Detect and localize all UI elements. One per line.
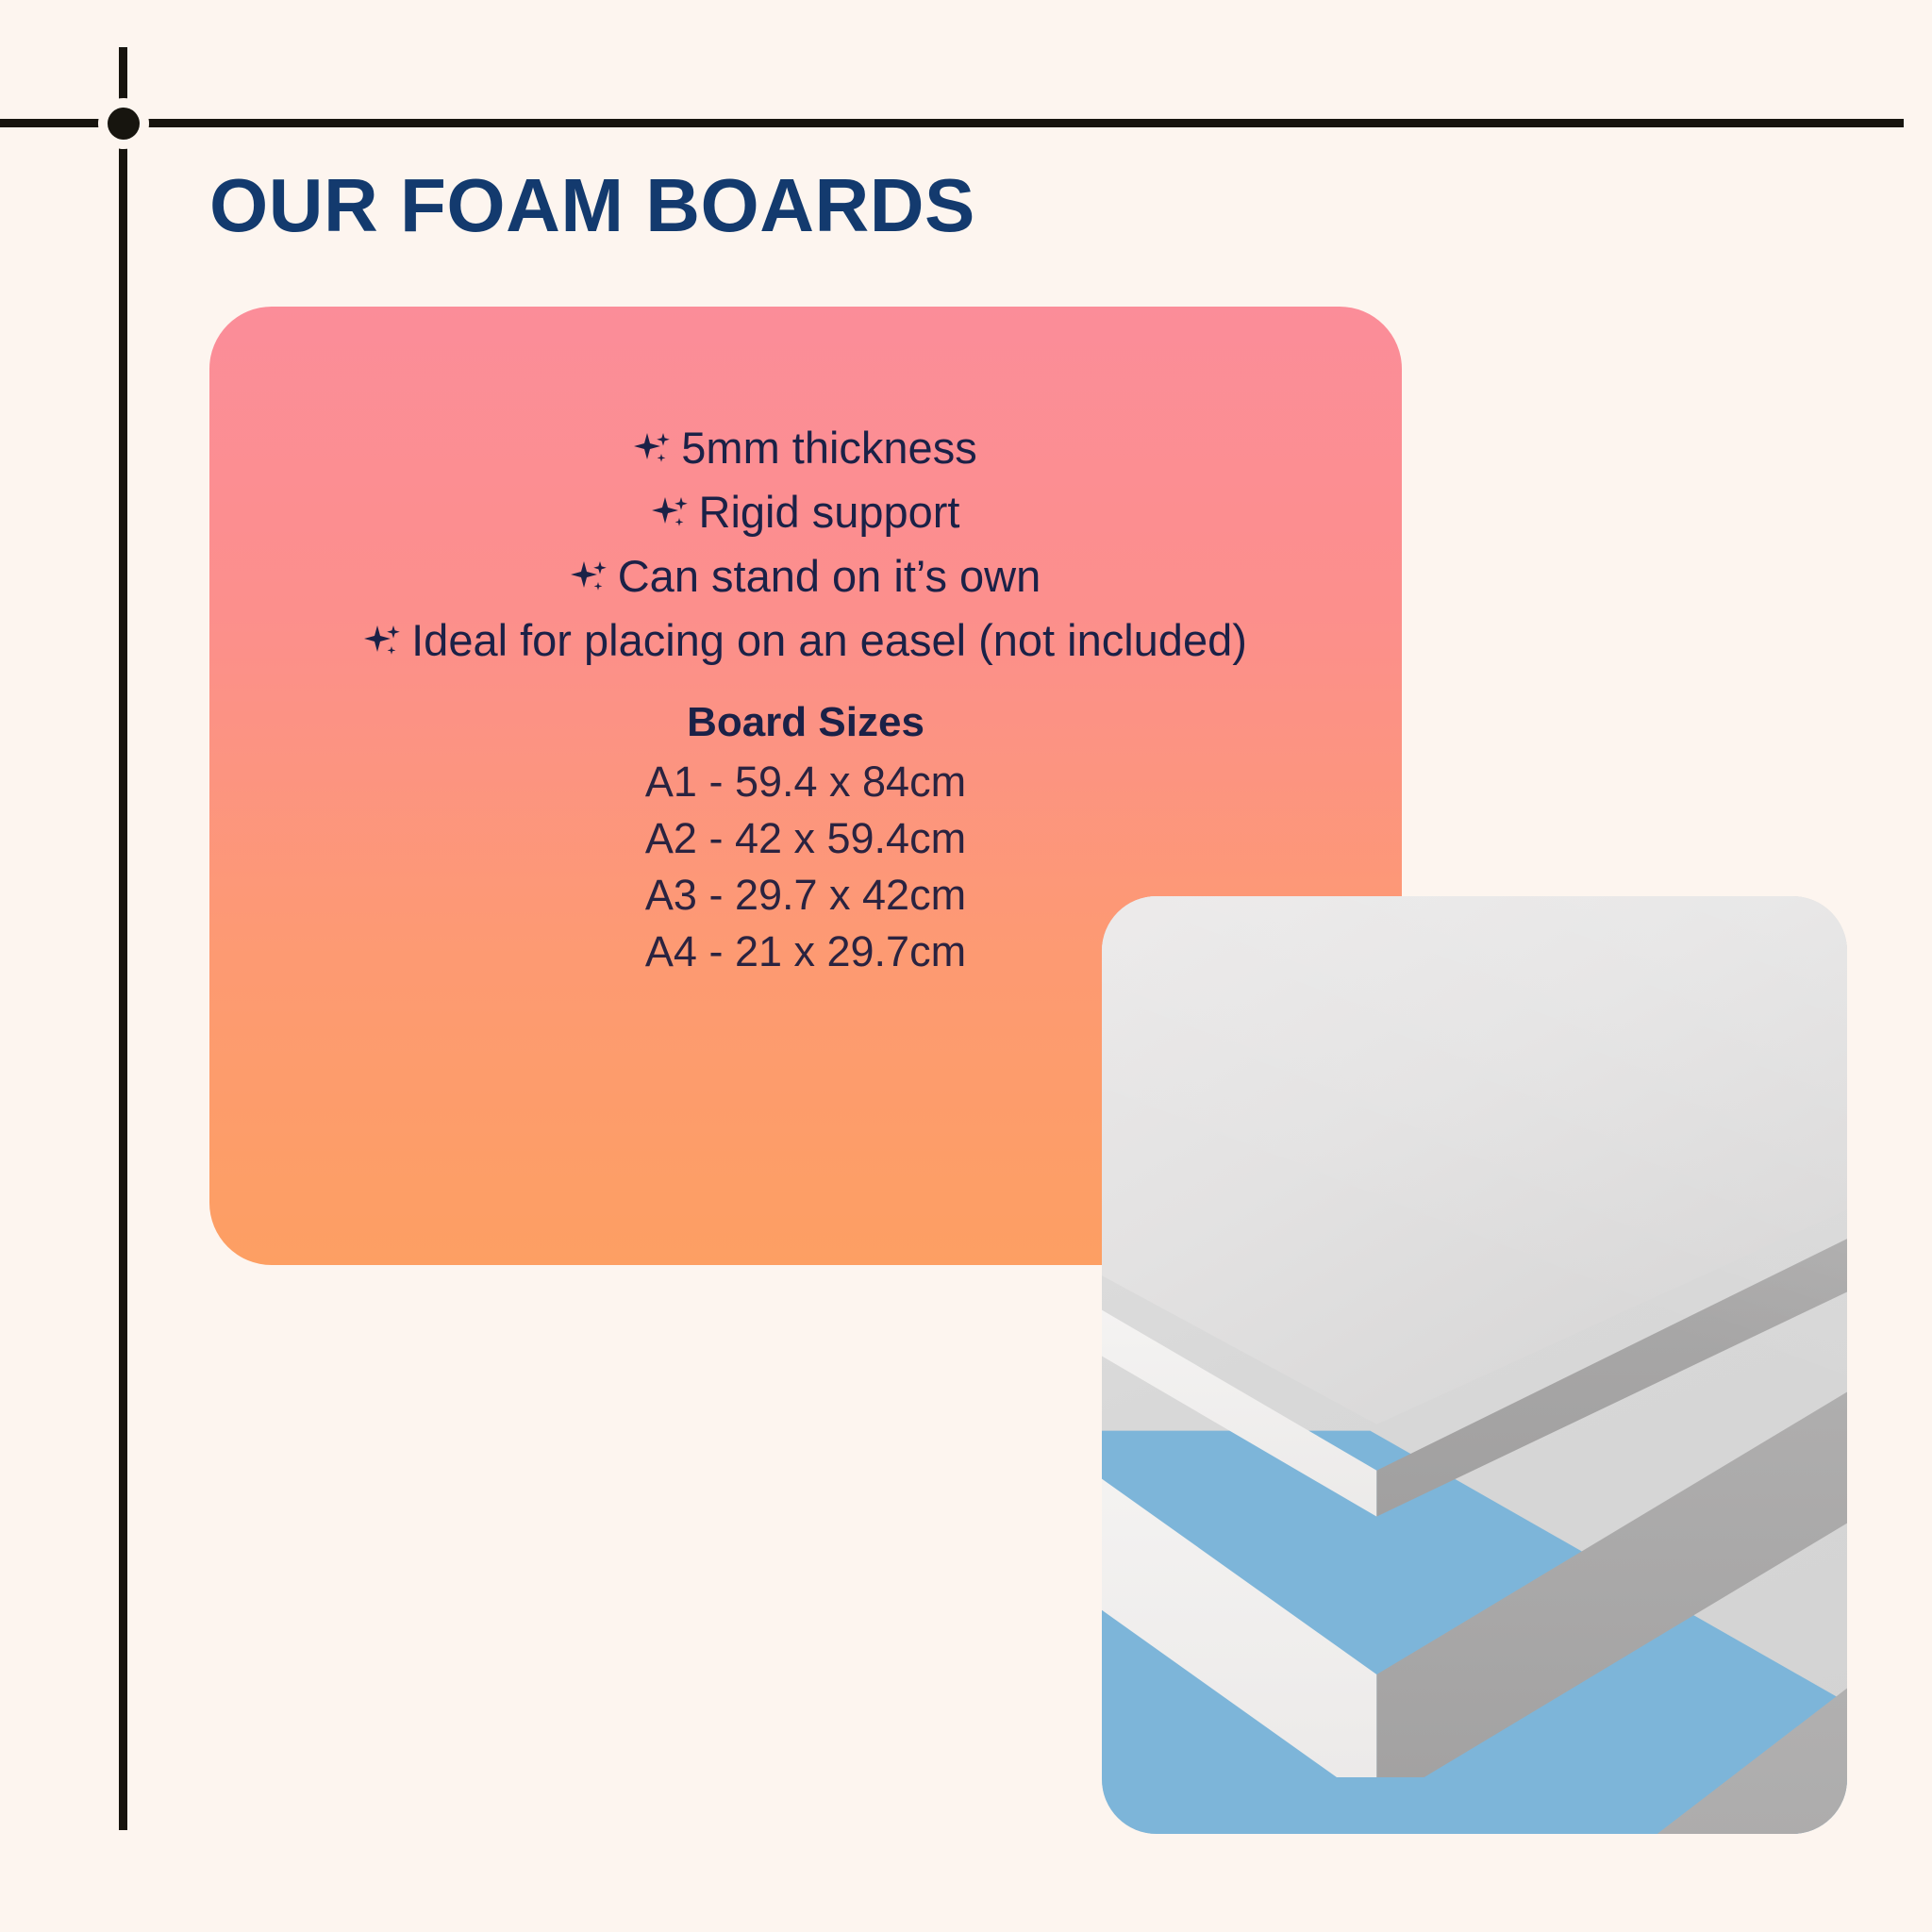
feature-item: Rigid support — [209, 482, 1402, 546]
foam-board-stack-image — [1102, 896, 1847, 1834]
vertical-rule — [119, 47, 127, 1830]
feature-item: 5mm thickness — [209, 418, 1402, 482]
poster-canvas: OUR FOAM BOARDS 5mm thickness — [0, 0, 1932, 1932]
feature-item: Ideal for placing on an easel (not inclu… — [209, 610, 1402, 675]
feature-item: Can stand on it’s own — [209, 546, 1402, 610]
feature-label: Rigid support — [699, 487, 960, 537]
page-title: OUR FOAM BOARDS — [209, 162, 975, 249]
feature-list: 5mm thickness Rigid support — [209, 418, 1402, 675]
sparkle-icon — [364, 614, 402, 675]
feature-label: 5mm thickness — [681, 423, 976, 473]
feature-label: Can stand on it’s own — [618, 551, 1041, 601]
board-sizes-heading: Board Sizes — [209, 693, 1402, 752]
horizontal-rule — [0, 119, 1904, 127]
product-photo-card — [1102, 896, 1847, 1834]
sparkle-icon — [634, 422, 672, 482]
crosshair-dot-icon — [108, 108, 140, 140]
sparkle-icon — [652, 486, 690, 546]
feature-label: Ideal for placing on an easel (not inclu… — [411, 615, 1247, 665]
sparkle-icon — [571, 550, 608, 610]
size-item: A2 - 42 x 59.4cm — [209, 810, 1402, 867]
size-item: A1 - 59.4 x 84cm — [209, 754, 1402, 810]
